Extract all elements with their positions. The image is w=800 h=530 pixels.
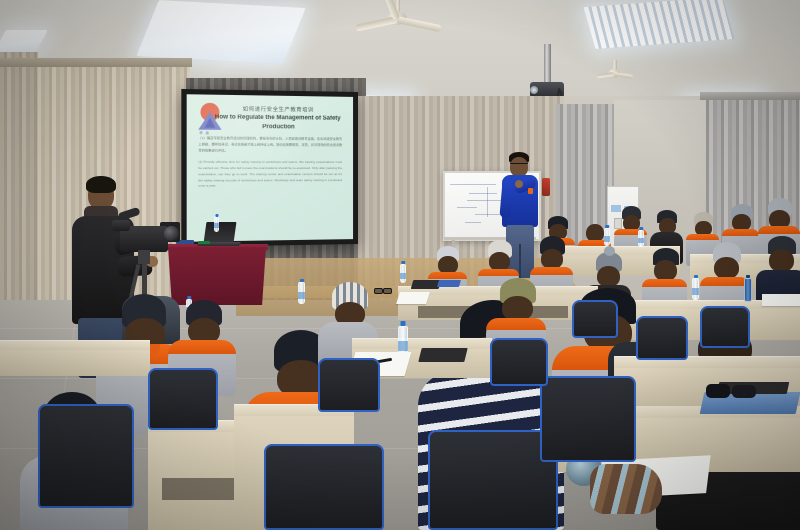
- trainer-hand: [515, 180, 523, 188]
- attendee-head: [541, 249, 563, 269]
- ceiling-light-panel: [136, 0, 305, 64]
- slide-paragraph-english: (1) Provide effective time for safety tr…: [198, 160, 342, 190]
- chair-backrest: [572, 300, 618, 338]
- logo-caption: 华 远: [199, 131, 209, 135]
- attendee-uniform-shoulder: [642, 279, 687, 287]
- whiteboard-writing: [487, 187, 488, 217]
- ceiling-light-panel: [583, 0, 734, 49]
- chair[interactable]: [490, 338, 548, 386]
- attendee-head: [769, 249, 794, 272]
- chair-backrest: [490, 338, 548, 386]
- whiteboard-writing: [450, 184, 496, 185]
- bottle-cap: [746, 275, 750, 278]
- attendee-head: [714, 257, 739, 279]
- chair-backrest: [264, 444, 384, 530]
- bottle-label: [298, 292, 305, 299]
- curtain-rail-right: [700, 92, 800, 100]
- ceiling-fan: [597, 60, 631, 82]
- chair-backrest: [38, 404, 134, 508]
- bottle-cap: [639, 227, 643, 230]
- attendee-uniform-shoulder: [758, 226, 800, 234]
- desk-front: [0, 350, 150, 376]
- water-bottle-blue[interactable]: [744, 278, 752, 302]
- curtain-rail-left: [0, 58, 192, 67]
- laptop-lid: [204, 222, 237, 243]
- attendee-uniform-shoulder: [486, 318, 546, 330]
- sunglasses[interactable]: [706, 384, 760, 400]
- water-bottle[interactable]: [692, 278, 699, 300]
- sunglasses-lens: [732, 385, 756, 398]
- chair[interactable]: [636, 316, 688, 360]
- sunglasses-lens: [706, 384, 730, 398]
- attendee-uniform-shoulder: [722, 229, 759, 236]
- presentation-slide: 华 远 如何进行安全生产教育培训 How to Regulate the Man…: [187, 94, 353, 242]
- attendee-uniform-shoulder: [168, 340, 236, 354]
- projector-pole: [544, 44, 551, 84]
- water-bottle[interactable]: [638, 230, 644, 247]
- chair-backrest: [700, 306, 750, 348]
- chair[interactable]: [264, 444, 384, 530]
- ceiling-light-panel: [0, 30, 48, 52]
- attendee-uniform-shoulder: [686, 234, 719, 240]
- beanie-body: [590, 464, 662, 514]
- bottle-cap: [215, 214, 218, 217]
- chair-backrest: [428, 430, 558, 530]
- chair[interactable]: [540, 376, 636, 462]
- water-bottle[interactable]: [214, 216, 219, 232]
- chair-backrest: [540, 376, 636, 462]
- chair-backrest: [148, 368, 218, 430]
- bottle-label: [604, 236, 610, 242]
- slide-title-english-line1: How to Regulate the Management of Safety: [211, 113, 344, 123]
- bottle-label: [400, 273, 406, 279]
- chair[interactable]: [572, 300, 618, 338]
- trainer-badge: [528, 188, 533, 194]
- chair[interactable]: [38, 404, 134, 508]
- bottle-cap: [401, 261, 405, 264]
- bottle-label: [398, 341, 408, 351]
- water-bottle[interactable]: [604, 228, 610, 246]
- desk: [0, 340, 150, 376]
- bottle-cap: [300, 279, 304, 282]
- whiteboard-writing: [457, 207, 477, 208]
- notebook[interactable]: [418, 348, 467, 362]
- whiteboard-writing: [469, 193, 497, 194]
- attendee-uniform-shoulder: [700, 277, 749, 286]
- projector-lens: [530, 86, 538, 94]
- chair-backrest: [636, 316, 688, 360]
- fan-blade: [355, 16, 398, 32]
- camera-lens: [164, 226, 179, 241]
- presenter-laptop: [196, 222, 242, 248]
- attendee-uniform-shoulder: [530, 267, 573, 275]
- attendee-uniform-shoulder: [428, 272, 467, 279]
- beanie-pompom: [604, 246, 615, 256]
- chair[interactable]: [318, 358, 380, 412]
- podium-items: [198, 241, 210, 244]
- attendee-head: [597, 266, 620, 287]
- chair-backrest: [318, 358, 380, 412]
- bottle-body: [744, 278, 752, 302]
- whiteboard-writing: [465, 222, 481, 223]
- attendee-head: [654, 260, 677, 281]
- slide-paragraph-chinese: （1）确定专职安全教育培训的管理机构，要有完善的计划、人员和培训教育设施。在车间…: [198, 136, 342, 154]
- bottle-label: [638, 238, 644, 243]
- blue-folder[interactable]: [437, 280, 461, 287]
- bottle-cap: [401, 321, 406, 326]
- chair[interactable]: [148, 368, 218, 430]
- sunglasses-lens: [383, 288, 392, 294]
- training-room-photo: 华 远 如何进行安全生产教育培训 How to Regulate the Man…: [0, 0, 800, 530]
- fan-blade: [614, 72, 633, 79]
- water-bottle[interactable]: [298, 282, 305, 304]
- curtain-left-far: [0, 52, 38, 320]
- trainer-glasses-icon: [510, 163, 528, 168]
- chair[interactable]: [700, 306, 750, 348]
- attendee-uniform-shoulder: [478, 269, 519, 276]
- ceiling-projector: [527, 44, 567, 98]
- fan-blade: [396, 16, 441, 32]
- handout-paper[interactable]: [762, 294, 800, 306]
- water-bottle[interactable]: [400, 264, 406, 283]
- camera-viewfinder: [112, 220, 130, 231]
- ceiling-fan: [352, 0, 442, 34]
- bottle-label: [692, 288, 699, 295]
- cameraman-hair: [86, 176, 116, 193]
- slide-title-english-line2: Production: [211, 123, 344, 132]
- projection-screen-surface: 华 远 如何进行安全生产教育培训 How to Regulate the Man…: [187, 94, 353, 242]
- bottle-cap: [694, 275, 698, 278]
- chair[interactable]: [428, 430, 558, 530]
- bottle-label: [214, 223, 219, 228]
- bottle-cap: [605, 225, 609, 228]
